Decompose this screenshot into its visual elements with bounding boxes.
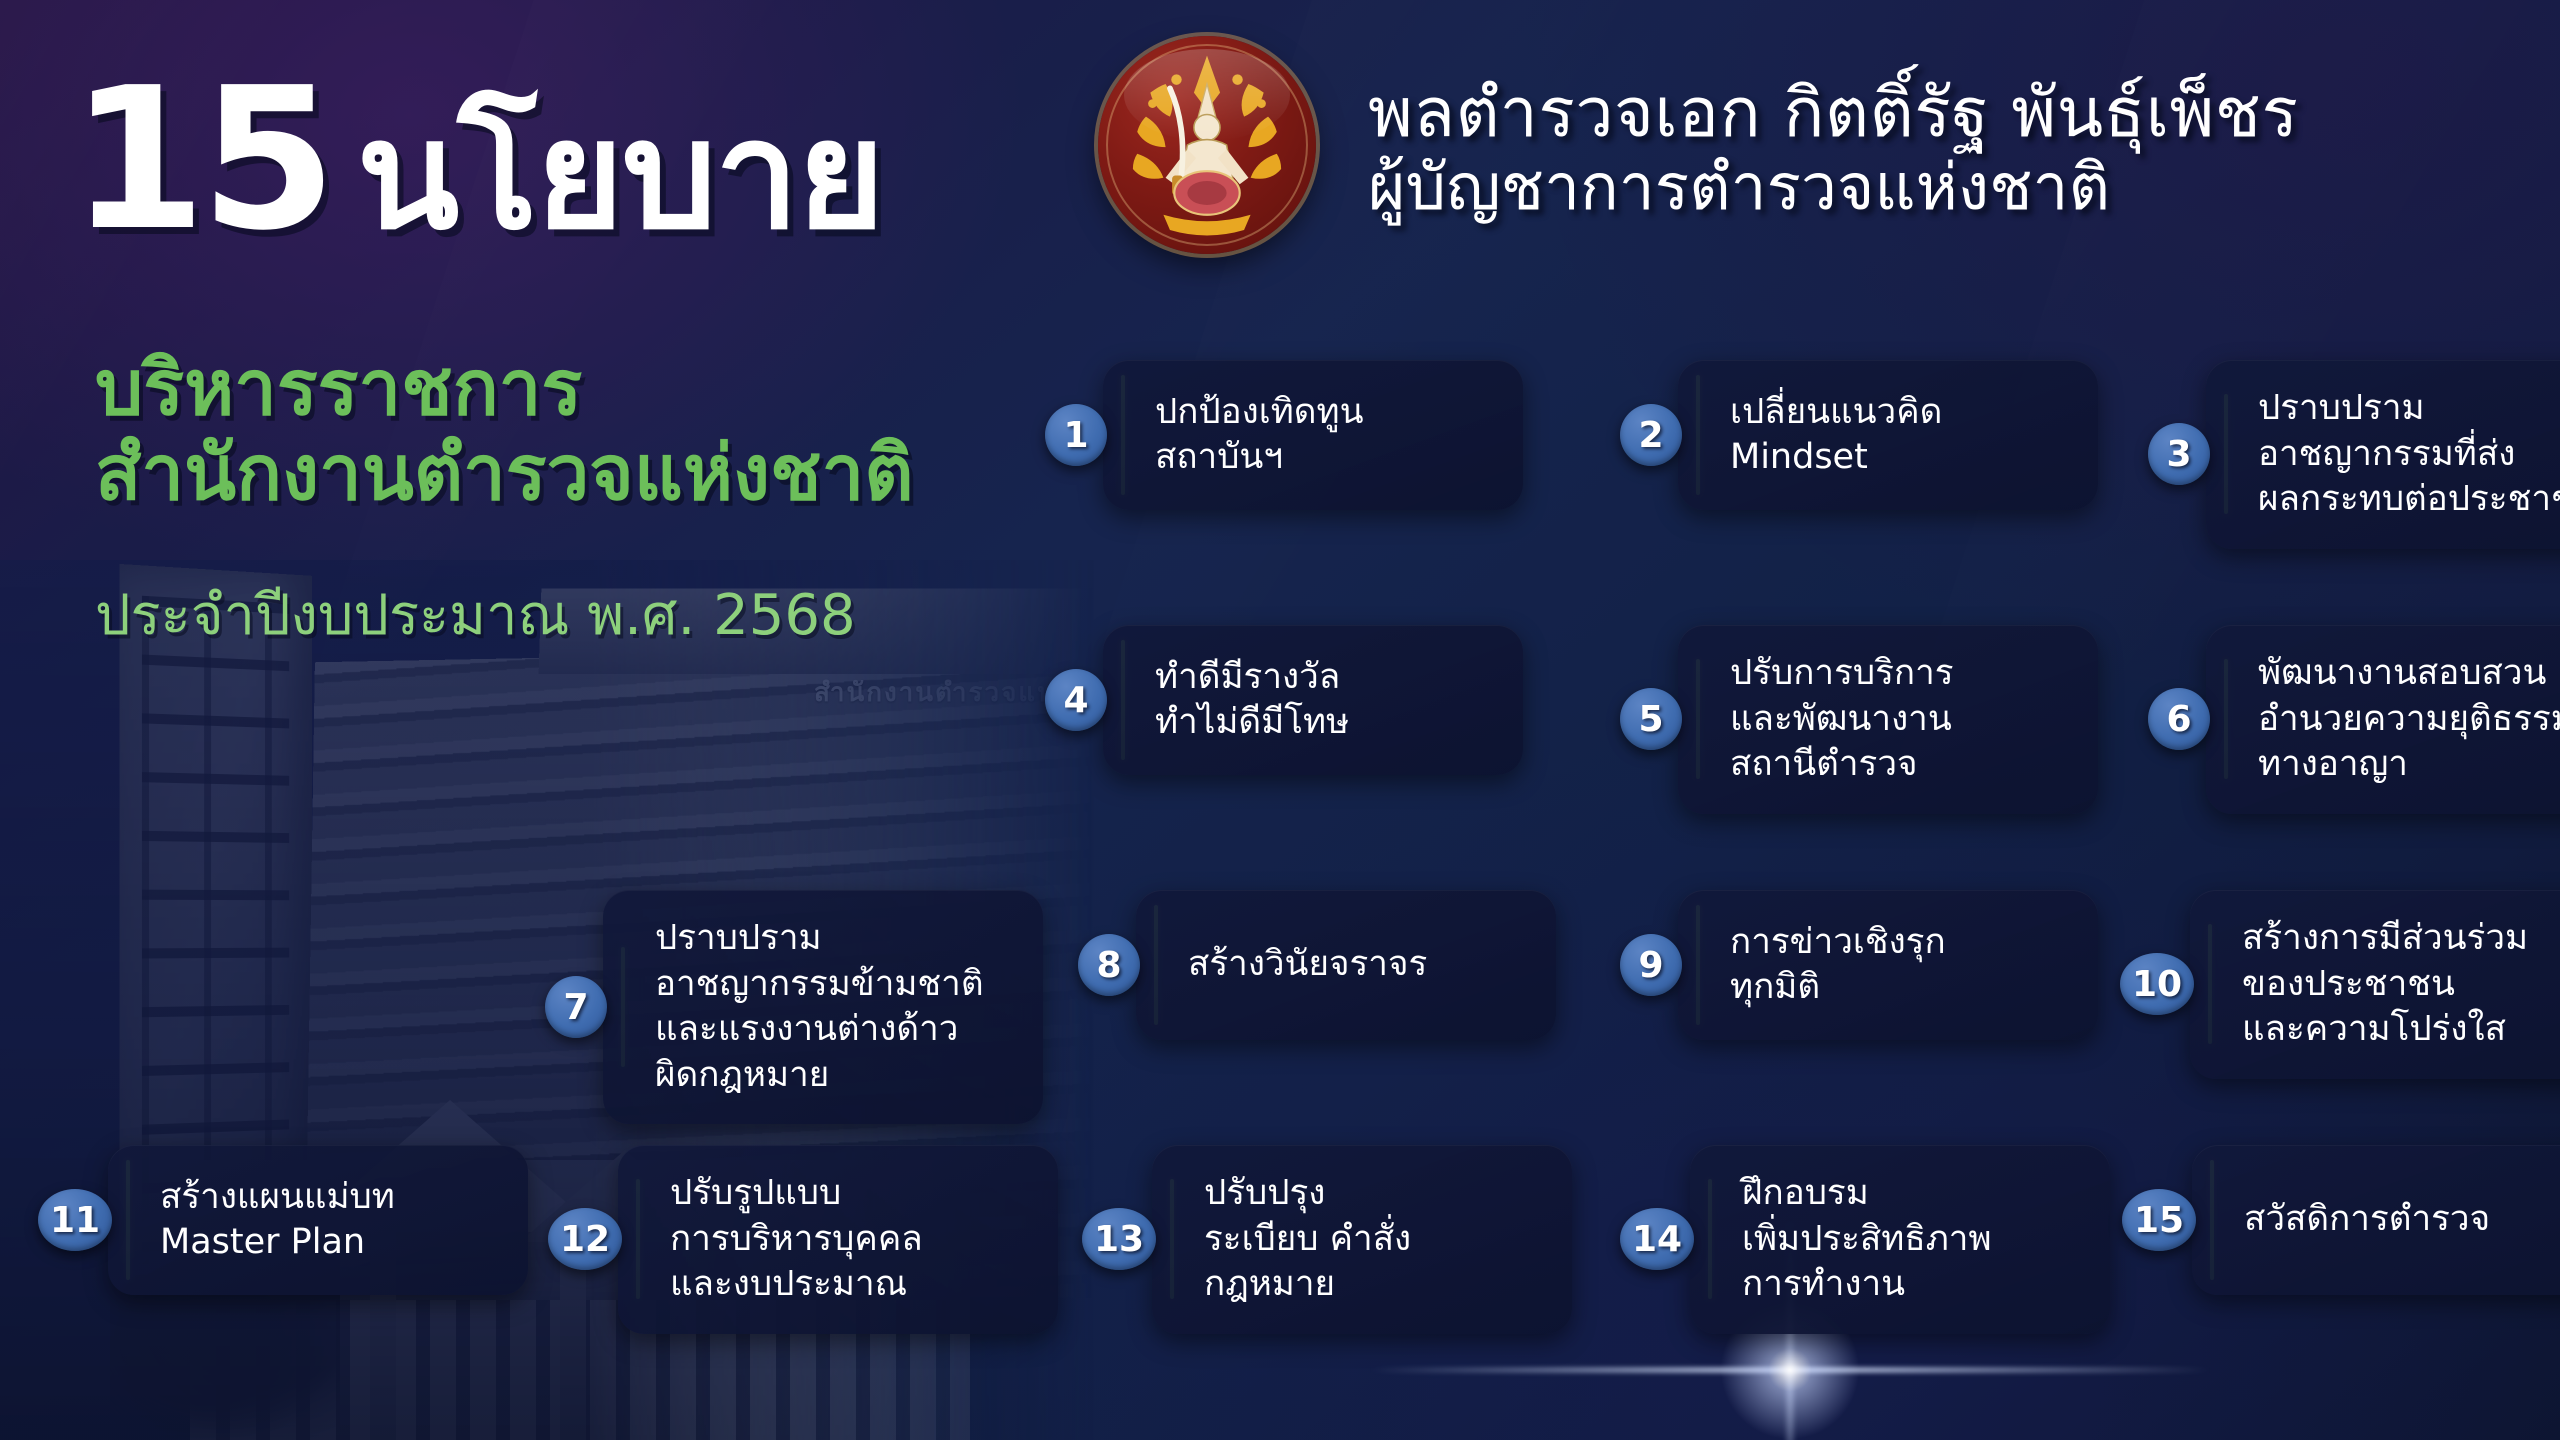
policy-text: พัฒนางานสอบสวน อำนวยความยุติธรรม ทางอาญา [2258, 651, 2560, 788]
policy-number-badge: 12 [548, 1208, 622, 1270]
policy-number-badge: 3 [2148, 423, 2210, 485]
policy-number-badge: 2 [1620, 404, 1682, 466]
policy-number-badge: 1 [1045, 404, 1107, 466]
policy-number-badge: 5 [1620, 688, 1682, 750]
policy-number-badge: 9 [1620, 934, 1682, 996]
policy-item-15[interactable]: 15 สวัสดิการตำรวจ [2122, 1145, 2560, 1295]
policy-item-4[interactable]: 4 ทำดีมีรางวัล ทำไม่ดีมีโทษ [1045, 625, 1523, 775]
policy-card[interactable]: ทำดีมีรางวัล ทำไม่ดีมีโทษ [1103, 625, 1523, 775]
policy-card[interactable]: เปลี่ยนแนวคิด Mindset [1678, 360, 2098, 510]
policy-item-3[interactable]: 3 ปราบปราม อาชญากรรมที่ส่ง ผลกระทบต่อประ… [2148, 360, 2560, 549]
policy-text: สร้างการมีส่วนร่วม ของประชาชน และความโปร… [2242, 916, 2528, 1053]
policy-text: ปรับรูปแบบ การบริหารบุคคล และงบประมาณ [670, 1171, 923, 1308]
policy-text: ทำดีมีรางวัล ทำไม่ดีมีโทษ [1155, 655, 1349, 746]
policy-item-1[interactable]: 1 ปกป้องเทิดทูน สถาบันฯ [1045, 360, 1523, 510]
policy-item-7[interactable]: 7 ปราบปราม อาชญากรรมข้ามชาติ และแรงงานต่… [545, 890, 1043, 1124]
policy-text: ปรับปรุง ระเบียบ คำสั่ง กฎหมาย [1204, 1171, 1411, 1308]
policy-number-badge: 13 [1082, 1208, 1156, 1270]
policy-number-badge: 10 [2120, 953, 2194, 1015]
policy-item-9[interactable]: 9 การข่าวเชิงรุก ทุกมิติ [1620, 890, 2098, 1040]
policy-card[interactable]: สร้างการมีส่วนร่วม ของประชาชน และความโปร… [2190, 890, 2560, 1079]
policy-item-10[interactable]: 10 สร้างการมีส่วนร่วม ของประชาชน และความ… [2120, 890, 2560, 1079]
policy-text: เปลี่ยนแนวคิด Mindset [1730, 390, 1942, 481]
policy-item-14[interactable]: 14 ฝึกอบรม เพิ่มประสิทธิภาพ การทำงาน [1620, 1145, 2110, 1334]
policy-item-6[interactable]: 6 พัฒนางานสอบสวน อำนวยความยุติธรรม ทางอา… [2148, 625, 2560, 814]
policy-number-badge: 11 [38, 1189, 112, 1251]
policy-card[interactable]: สร้างแผนแม่บท Master Plan [108, 1145, 528, 1295]
policy-item-8[interactable]: 8 สร้างวินัยจราจร [1078, 890, 1556, 1040]
policy-item-11[interactable]: 11 สร้างแผนแม่บท Master Plan [38, 1145, 528, 1295]
policy-card[interactable]: ปราบปราม อาชญากรรมที่ส่ง ผลกระทบต่อประชา… [2206, 360, 2560, 549]
policy-text: ปราบปราม อาชญากรรมข้ามชาติ และแรงงานต่าง… [655, 916, 984, 1098]
policy-number-badge: 4 [1045, 669, 1107, 731]
policy-item-12[interactable]: 12 ปรับรูปแบบ การบริหารบุคคล และงบประมาณ [548, 1145, 1058, 1334]
policy-grid: 1 ปกป้องเทิดทูน สถาบันฯ 2 เปลี่ยนแนวคิด … [0, 0, 2560, 1440]
policy-card[interactable]: สวัสดิการตำรวจ [2192, 1145, 2560, 1295]
policy-number-badge: 8 [1078, 934, 1140, 996]
policy-text: ฝึกอบรม เพิ่มประสิทธิภาพ การทำงาน [1742, 1171, 1992, 1308]
policy-card[interactable]: ปรับรูปแบบ การบริหารบุคคล และงบประมาณ [618, 1145, 1058, 1334]
policy-card[interactable]: ปราบปราม อาชญากรรมข้ามชาติ และแรงงานต่าง… [603, 890, 1043, 1124]
policy-text: การข่าวเชิงรุก ทุกมิติ [1730, 920, 1946, 1011]
policy-card[interactable]: สร้างวินัยจราจร [1136, 890, 1556, 1040]
policy-text: ปรับการบริการ และพัฒนางาน สถานีตำรวจ [1730, 651, 1954, 788]
policy-text: ปราบปราม อาชญากรรมที่ส่ง ผลกระทบต่อประชา… [2258, 386, 2560, 523]
policy-card[interactable]: ปรับการบริการ และพัฒนางาน สถานีตำรวจ [1678, 625, 2098, 814]
policy-number-badge: 7 [545, 976, 607, 1038]
policy-card[interactable]: การข่าวเชิงรุก ทุกมิติ [1678, 890, 2098, 1040]
policy-number-badge: 6 [2148, 688, 2210, 750]
policy-card[interactable]: ฝึกอบรม เพิ่มประสิทธิภาพ การทำงาน [1690, 1145, 2110, 1334]
infographic-poster: สำนักงานตำรวจแห่งชาติ 15นโยบาย บริหารราช… [0, 0, 2560, 1440]
policy-text: สร้างแผนแม่บท Master Plan [160, 1175, 395, 1266]
policy-item-5[interactable]: 5 ปรับการบริการ และพัฒนางาน สถานีตำรวจ [1620, 625, 2098, 814]
policy-text: สวัสดิการตำรวจ [2244, 1197, 2490, 1243]
policy-card[interactable]: ปรับปรุง ระเบียบ คำสั่ง กฎหมาย [1152, 1145, 1572, 1334]
policy-item-2[interactable]: 2 เปลี่ยนแนวคิด Mindset [1620, 360, 2098, 510]
policy-item-13[interactable]: 13 ปรับปรุง ระเบียบ คำสั่ง กฎหมาย [1082, 1145, 1572, 1334]
policy-text: สร้างวินัยจราจร [1188, 942, 1427, 988]
policy-number-badge: 15 [2122, 1189, 2196, 1251]
policy-card[interactable]: ปกป้องเทิดทูน สถาบันฯ [1103, 360, 1523, 510]
policy-card[interactable]: พัฒนางานสอบสวน อำนวยความยุติธรรม ทางอาญา [2206, 625, 2560, 814]
policy-text: ปกป้องเทิดทูน สถาบันฯ [1155, 390, 1364, 481]
policy-number-badge: 14 [1620, 1208, 1694, 1270]
